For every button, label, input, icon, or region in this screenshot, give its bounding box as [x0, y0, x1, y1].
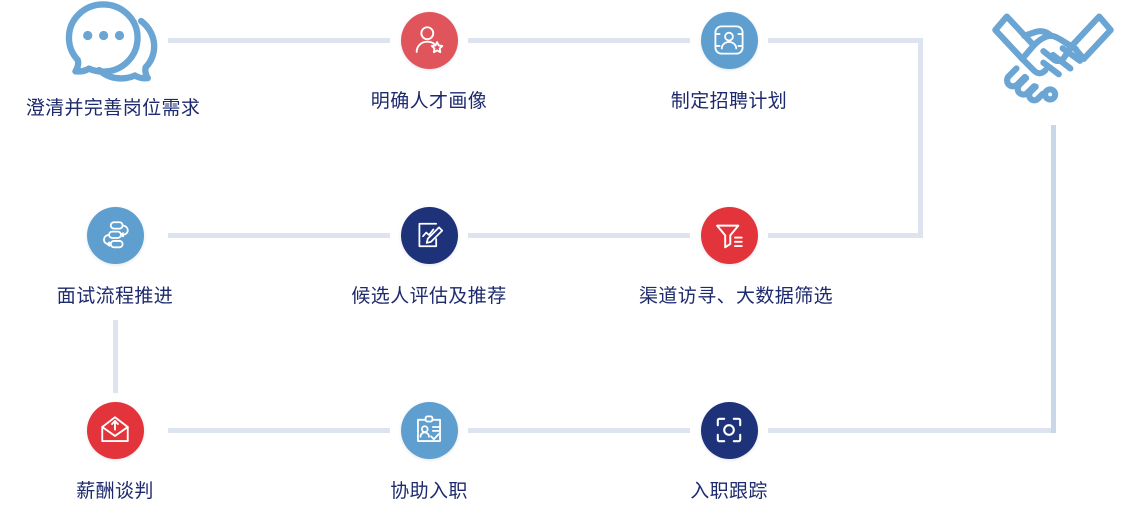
- person-star-icon: [401, 12, 458, 69]
- profile-card-icon: [701, 12, 758, 69]
- filter-funnel-icon-wrap: [692, 198, 766, 272]
- chat-bubbles-icon-wrap: [58, 0, 168, 84]
- envelope-offer-icon-wrap: [78, 393, 152, 467]
- step-label: 制定招聘计划: [639, 89, 819, 115]
- step-label: 薪酬谈判: [25, 479, 205, 505]
- recruitment-process-diagram: 澄清并完善岗位需求 明确人才画像: [0, 0, 1126, 501]
- step-node-clarify-requirements[interactable]: 澄清并完善岗位需求: [23, 0, 203, 122]
- chat-bubbles-icon: [61, 0, 165, 87]
- document-pencil-icon: [401, 207, 458, 264]
- process-flow-icon-wrap: [78, 198, 152, 272]
- step-label: 候选人评估及推荐: [339, 284, 519, 310]
- envelope-offer-icon: [87, 402, 144, 459]
- connector-elbow-to-handshake: [1051, 125, 1056, 433]
- step-label: 面试流程推进: [25, 284, 205, 310]
- step-node-talent-profile[interactable]: 明确人才画像: [339, 3, 519, 115]
- step-label: 澄清并完善岗位需求: [23, 96, 203, 122]
- step-node-interview-process[interactable]: 面试流程推进: [25, 198, 205, 310]
- step-node-onboarding-tracking[interactable]: 入职跟踪: [639, 393, 819, 505]
- person-star-icon-wrap: [392, 3, 466, 77]
- step-node-candidate-assessment[interactable]: 候选人评估及推荐: [339, 198, 519, 310]
- filter-funnel-icon: [701, 207, 758, 264]
- connector-elbow-right-vertical: [918, 38, 923, 238]
- step-label: 入职跟踪: [639, 479, 819, 505]
- handshake-icon: [988, 5, 1118, 105]
- focus-target-icon-wrap: [692, 393, 766, 467]
- step-node-sourcing-bigdata[interactable]: 渠道访寻、大数据筛选: [639, 198, 819, 310]
- step-node-onboarding-support[interactable]: 协助入职: [339, 393, 519, 505]
- focus-target-icon: [701, 402, 758, 459]
- step-label: 渠道访寻、大数据筛选: [639, 284, 819, 310]
- step-node-recruitment-plan[interactable]: 制定招聘计划: [639, 3, 819, 115]
- document-pencil-icon-wrap: [392, 198, 466, 272]
- profile-card-icon-wrap: [692, 3, 766, 77]
- id-badge-check-icon: [401, 402, 458, 459]
- step-node-salary-negotiation[interactable]: 薪酬谈判: [25, 393, 205, 505]
- id-badge-check-icon-wrap: [392, 393, 466, 467]
- step-label: 协助入职: [339, 479, 519, 505]
- process-flow-icon: [87, 207, 144, 264]
- step-label: 明确人才画像: [339, 89, 519, 115]
